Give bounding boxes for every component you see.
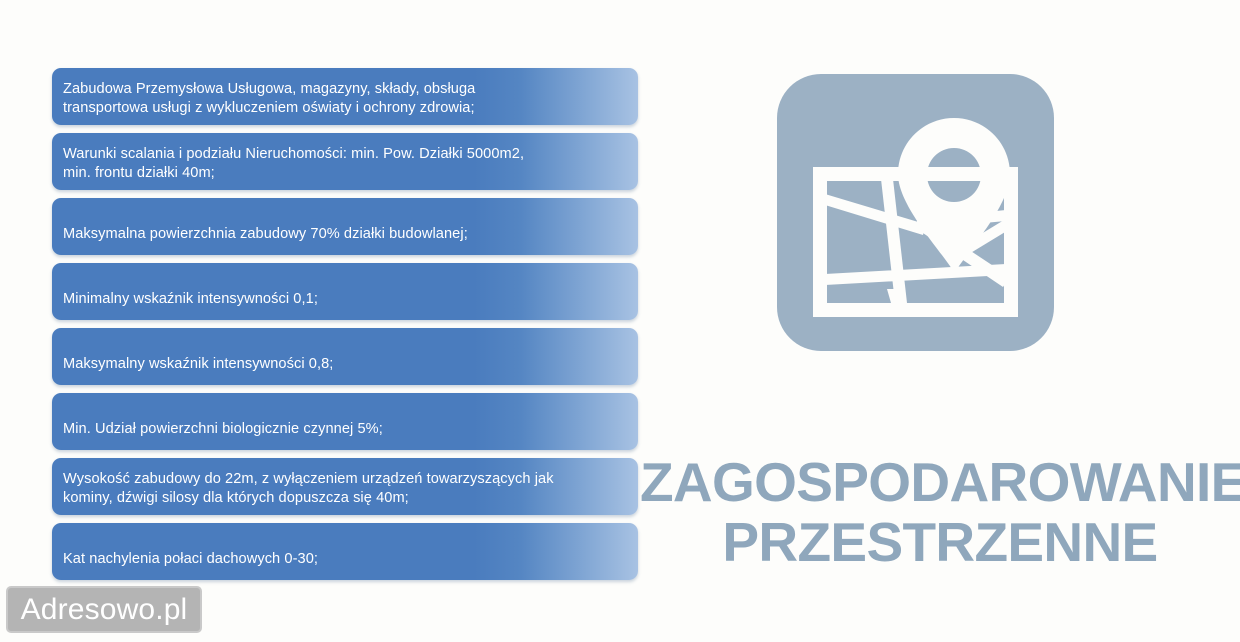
list-item: Wysokość zabudowy do 22m, z wyłączeniem … bbox=[52, 458, 638, 515]
watermark: Adresowo.pl bbox=[6, 586, 202, 633]
list-item: Kat nachylenia połaci dachowych 0-30; bbox=[52, 523, 638, 580]
list-item: Maksymalna powierzchnia zabudowy 70% dzi… bbox=[52, 198, 638, 255]
list-item-text: Maksymalny wskaźnik intensywności 0,8; bbox=[52, 328, 638, 374]
page-title-line-1: ZAGOSPODAROWANIE bbox=[640, 451, 1240, 513]
list-item-text: Kat nachylenia połaci dachowych 0-30; bbox=[52, 523, 638, 569]
list-item: Maksymalny wskaźnik intensywności 0,8; bbox=[52, 328, 638, 385]
list-item: Minimalny wskaźnik intensywności 0,1; bbox=[52, 263, 638, 320]
map-with-location-pin-icon bbox=[777, 74, 1054, 351]
watermark-label: Adresowo.pl bbox=[21, 594, 188, 626]
illustration-panel: ZAGOSPODAROWANIE PRZESTRZENNE bbox=[640, 0, 1240, 642]
provisions-list: Zabudowa Przemysłowa Usługowa, magazyny,… bbox=[52, 68, 638, 588]
page-title-line-2: PRZESTRZENNE bbox=[640, 512, 1240, 572]
slide: Zabudowa Przemysłowa Usługowa, magazyny,… bbox=[0, 0, 1240, 642]
list-item: Warunki scalania i podziału Nieruchomośc… bbox=[52, 133, 638, 190]
list-item: Min. Udział powierzchni biologicznie czy… bbox=[52, 393, 638, 450]
list-item: Zabudowa Przemysłowa Usługowa, magazyny,… bbox=[52, 68, 638, 125]
list-item-text: Warunki scalania i podziału Nieruchomośc… bbox=[52, 133, 638, 183]
list-item-text: Maksymalna powierzchnia zabudowy 70% dzi… bbox=[52, 198, 638, 244]
list-item-text: Wysokość zabudowy do 22m, z wyłączeniem … bbox=[52, 458, 638, 508]
list-item-text: Minimalny wskaźnik intensywności 0,1; bbox=[52, 263, 638, 309]
list-item-text: Min. Udział powierzchni biologicznie czy… bbox=[52, 393, 638, 439]
page-title: ZAGOSPODAROWANIE PRZESTRZENNE bbox=[640, 452, 1240, 572]
list-item-text: Zabudowa Przemysłowa Usługowa, magazyny,… bbox=[52, 68, 638, 118]
